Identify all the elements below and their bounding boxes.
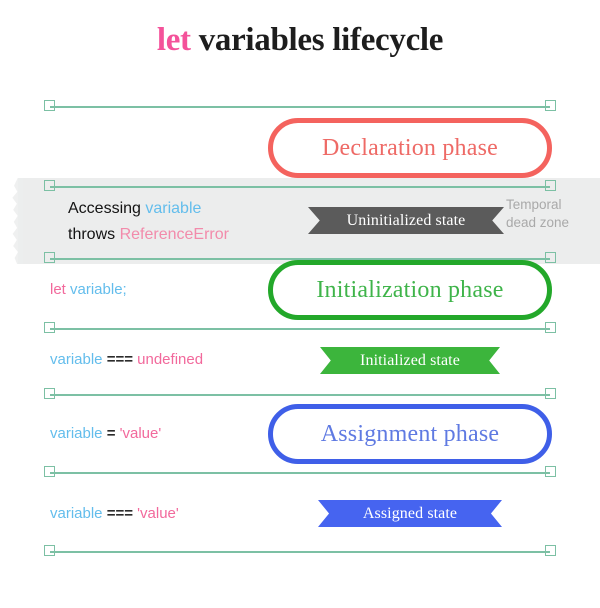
connector-line-7 — [44, 545, 556, 558]
state-ribbon-uninitialized-label: Uninitialized state — [347, 212, 466, 230]
tdz-line1-plain: Accessing — [68, 200, 141, 217]
title-keyword: let — [157, 22, 191, 58]
state-ribbon-assigned: Assigned state — [318, 500, 502, 527]
connector-cap-right — [545, 252, 556, 263]
phase-initialization-label: Initialization phase — [316, 277, 503, 304]
connector-cap-right — [545, 466, 556, 477]
state-ribbon-initialized: Initialized state — [320, 347, 500, 374]
connector-line-5 — [44, 388, 556, 401]
connector-bar — [50, 551, 550, 553]
code-declaration-statement: let variable; — [50, 281, 127, 298]
code-assigned-check: variable === 'value' — [50, 505, 179, 522]
state-ribbon-initialized-label: Initialized state — [360, 352, 460, 370]
tdz-description-line-2: throws ReferenceError — [68, 222, 229, 248]
phase-assignment-label: Assignment phase — [321, 421, 500, 448]
code-variable: variable — [50, 505, 103, 522]
title-rest-spacer — [191, 22, 199, 58]
tdz-label-line-2: dead zone — [506, 214, 592, 232]
connector-cap-right — [545, 100, 556, 111]
code-variable: variable — [50, 351, 103, 368]
connector-line-1 — [44, 100, 556, 113]
phase-initialization[interactable]: Initialization phase — [268, 260, 552, 320]
page-title: let variables lifecycle — [0, 22, 600, 59]
connector-cap-right — [545, 388, 556, 399]
code-operator: = — [107, 425, 116, 442]
code-assignment-statement: variable = 'value' — [50, 425, 161, 442]
tdz-description: Accessing variable throws ReferenceError — [68, 196, 229, 248]
code-initialized-check: variable === undefined — [50, 351, 203, 368]
code-variable: variable; — [70, 281, 127, 298]
state-ribbon-uninitialized: Uninitialized state — [308, 207, 504, 234]
phase-assignment[interactable]: Assignment phase — [268, 404, 552, 464]
connector-line-4 — [44, 322, 556, 335]
tdz-label: Temporal dead zone — [506, 196, 592, 232]
tdz-label-line-1: Temporal — [506, 196, 592, 214]
tdz-line2-plain: throws — [68, 226, 115, 243]
connector-cap-right — [545, 322, 556, 333]
diagram-canvas: let variables lifecycle Declaration phas… — [0, 0, 600, 608]
code-value: 'value' — [137, 505, 179, 522]
connector-bar — [50, 106, 550, 108]
code-value: 'value' — [120, 425, 162, 442]
connector-bar — [50, 394, 550, 396]
code-value-undefined: undefined — [137, 351, 203, 368]
tdz-line2-error: ReferenceError — [120, 226, 229, 243]
tdz-line1-variable: variable — [145, 200, 201, 217]
code-variable: variable — [50, 425, 103, 442]
code-keyword-let: let — [50, 281, 66, 298]
connector-cap-right — [545, 180, 556, 191]
connector-bar — [50, 186, 550, 188]
phase-declaration-label: Declaration phase — [322, 135, 498, 162]
code-operator: === — [107, 505, 133, 522]
connector-line-2 — [44, 180, 556, 193]
connector-line-6 — [44, 466, 556, 479]
title-rest: variables lifecycle — [199, 22, 443, 58]
code-operator: === — [107, 351, 133, 368]
state-ribbon-assigned-label: Assigned state — [363, 505, 457, 523]
connector-bar — [50, 472, 550, 474]
phase-declaration[interactable]: Declaration phase — [268, 118, 552, 178]
connector-bar — [50, 328, 550, 330]
connector-cap-right — [545, 545, 556, 556]
tdz-description-line-1: Accessing variable — [68, 196, 229, 222]
